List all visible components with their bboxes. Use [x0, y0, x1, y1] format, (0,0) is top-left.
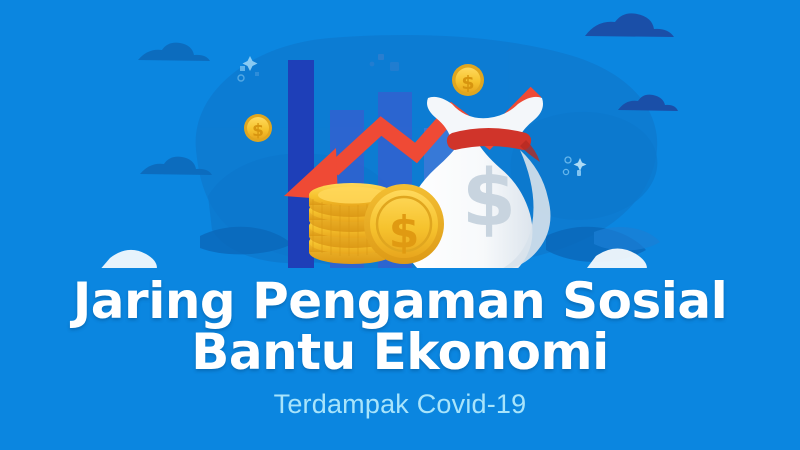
text-area-background: [0, 268, 800, 450]
poster-canvas: $: [0, 0, 800, 450]
floating-coin-top-symbol: $: [461, 72, 474, 94]
front-coin: $: [364, 184, 444, 264]
floating-coin-top: $: [452, 64, 484, 96]
floating-coin-left-symbol: $: [252, 121, 264, 141]
floating-coin-left: $: [244, 114, 272, 142]
illustration: $: [0, 0, 800, 450]
front-coin-symbol: $: [389, 207, 420, 258]
bag-dollar-symbol: $: [462, 154, 516, 244]
